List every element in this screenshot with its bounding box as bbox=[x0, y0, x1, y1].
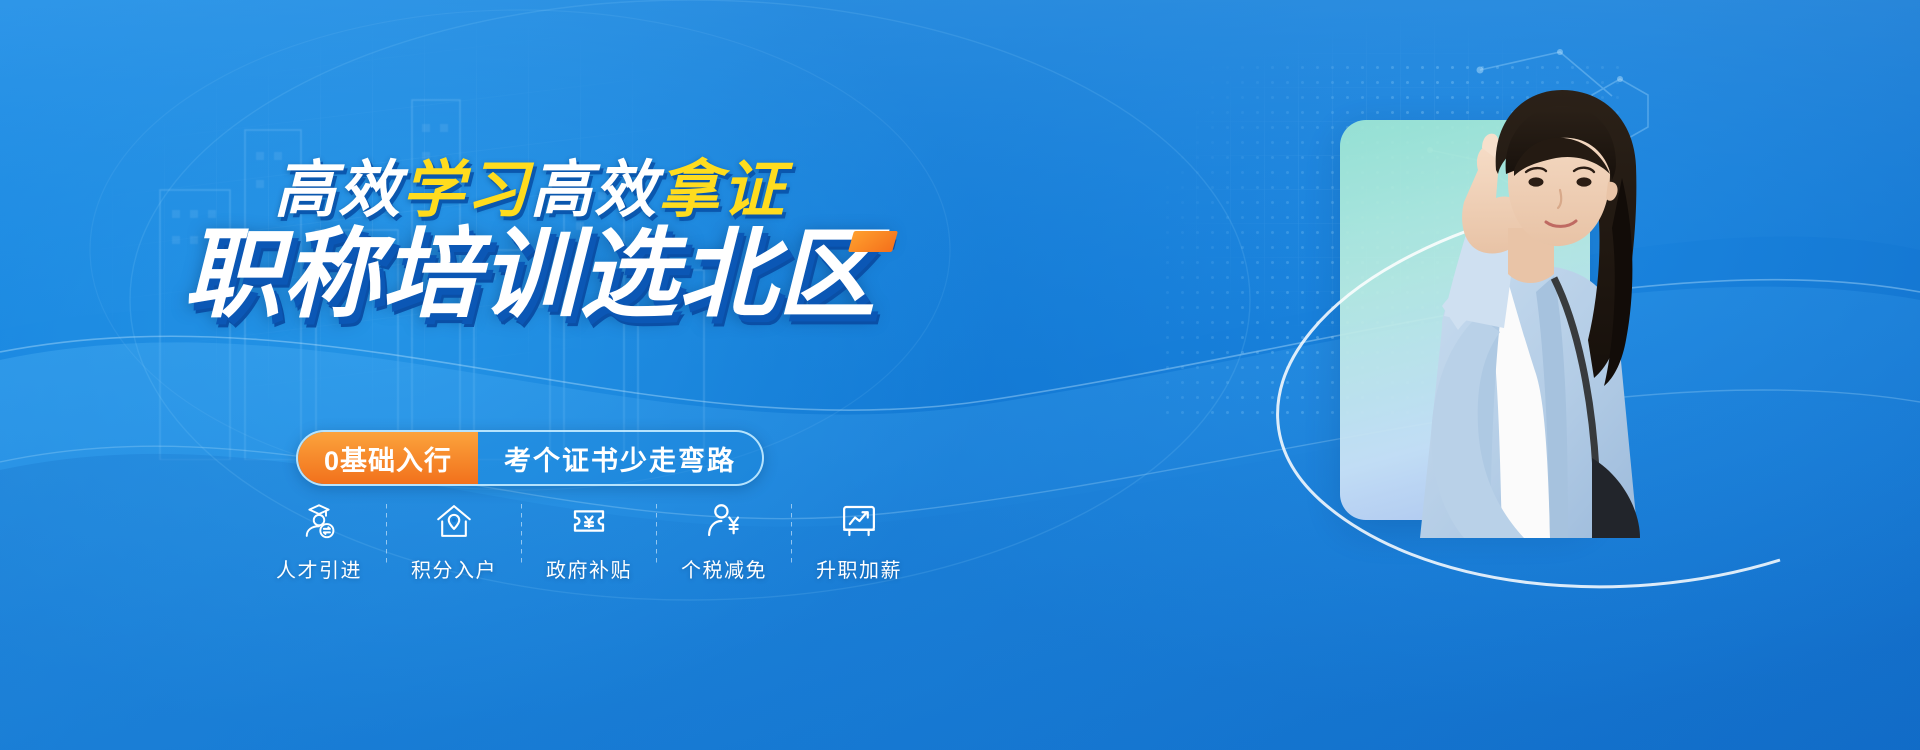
banner-content: 高效学习高效拿证 职称培训选北区 0基础入行 考个证书少走弯路 bbox=[0, 0, 1060, 750]
coupon-yuan-icon bbox=[568, 500, 610, 542]
headline-top-segment-2: 学习 bbox=[402, 156, 530, 225]
headline-top-segment-3: 高效 bbox=[530, 156, 658, 225]
feature-label: 政府补贴 bbox=[546, 554, 632, 583]
hero-visual bbox=[1020, 0, 1920, 750]
feature-item-tax-reduction[interactable]: 个税减免 bbox=[657, 500, 791, 583]
person-yuan-icon bbox=[703, 500, 745, 542]
feature-label: 升职加薪 bbox=[816, 554, 902, 583]
feature-item-points-residency[interactable]: 积分入户 bbox=[387, 500, 521, 583]
feature-divider bbox=[791, 504, 792, 566]
feature-item-promotion-raise[interactable]: 升职加薪 bbox=[792, 500, 926, 583]
feature-item-government-subsidy[interactable]: 政府补贴 bbox=[522, 500, 656, 583]
tagline-badge-wrap: 0基础入行 考个证书少走弯路 bbox=[0, 430, 1060, 486]
badge-left-label: 0基础入行 bbox=[298, 432, 478, 484]
feature-divider bbox=[521, 504, 522, 566]
promo-banner: 高效学习高效拿证 职称培训选北区 0基础入行 考个证书少走弯路 bbox=[0, 0, 1920, 750]
tagline-badge[interactable]: 0基础入行 考个证书少走弯路 bbox=[296, 430, 764, 486]
headline-main: 职称培训选北区 bbox=[183, 222, 876, 328]
feature-list: 人才引进 积分入户 bbox=[252, 500, 926, 583]
headline-top-segment-1: 高效 bbox=[274, 156, 402, 225]
headline-top-segment-4: 拿证 bbox=[658, 156, 786, 225]
headline-main-wrap: 职称培训选北区 bbox=[0, 222, 1060, 328]
feature-label: 人才引进 bbox=[276, 554, 362, 583]
chart-board-icon bbox=[838, 500, 880, 542]
feature-divider bbox=[386, 504, 387, 566]
feature-label: 个税减免 bbox=[681, 554, 767, 583]
graduate-person-icon bbox=[298, 500, 340, 542]
feature-divider bbox=[656, 504, 657, 566]
headline-top: 高效学习高效拿证 bbox=[0, 160, 1060, 222]
house-pin-icon bbox=[433, 500, 475, 542]
orange-accent-stroke bbox=[848, 231, 898, 252]
badge-right-label: 考个证书少走弯路 bbox=[478, 432, 762, 484]
feature-item-talent-introduction[interactable]: 人才引进 bbox=[252, 500, 386, 583]
feature-label: 积分入户 bbox=[411, 554, 497, 583]
headline-main-text: 职称培训选北区 bbox=[183, 219, 876, 329]
presenter-woman-photo bbox=[1292, 78, 1762, 538]
